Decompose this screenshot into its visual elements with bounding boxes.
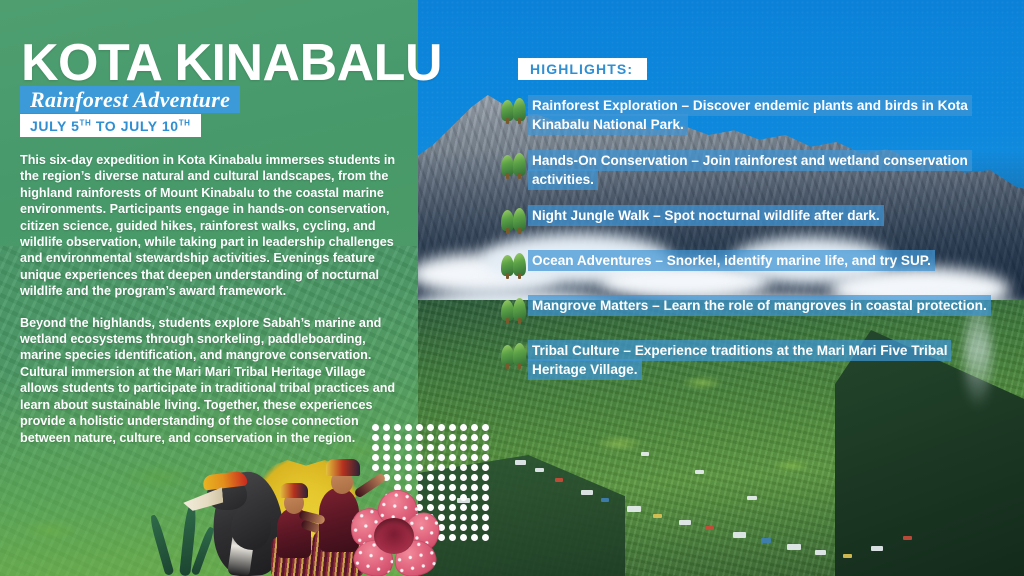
- trees-icon: [500, 208, 530, 234]
- poster-canvas: KOTA KINABALU Rainforest Adventure JULY …: [0, 0, 1024, 576]
- highlight-item: Hands-On Conservation – Join rainforest …: [500, 151, 1000, 189]
- highlight-item-text: Night Jungle Walk – Spot nocturnal wildl…: [530, 206, 1000, 225]
- highlights-list: Rainforest Exploration – Discover endemi…: [500, 96, 1000, 379]
- date-text: JULY 5TH TO JULY 10TH: [30, 118, 191, 134]
- highlight-item: Ocean Adventures – Snorkel, identify mar…: [500, 251, 1000, 279]
- trees-icon: [500, 253, 530, 279]
- highlight-item-text: Mangrove Matters – Learn the role of man…: [530, 296, 1000, 315]
- trees-icon: [500, 153, 530, 179]
- rafflesia-flower-icon: [348, 484, 440, 576]
- description-paragraph-1: This six-day expedition in Kota Kinabalu…: [20, 152, 404, 300]
- date-middle: TO JULY 10: [91, 118, 178, 134]
- description-paragraph-2: Beyond the highlands, students explore S…: [20, 315, 404, 446]
- trees-icon: [500, 98, 530, 124]
- highlights-heading-bar: HIGHLIGHTS:: [518, 58, 647, 80]
- date-ordinal-2: TH: [179, 118, 191, 127]
- date-bar: JULY 5TH TO JULY 10TH: [20, 114, 201, 137]
- highlight-item-text: Tribal Culture – Experience traditions a…: [530, 341, 1000, 379]
- rafflesia-core: [374, 518, 414, 554]
- highlight-item-text: Ocean Adventures – Snorkel, identify mar…: [530, 251, 1000, 270]
- highlights-heading: HIGHLIGHTS:: [530, 61, 633, 77]
- highlight-item: Mangrove Matters – Learn the role of man…: [500, 296, 1000, 324]
- date-ordinal-1: TH: [80, 118, 92, 127]
- highlights-section: HIGHLIGHTS: Rainforest Exploration – Dis…: [500, 58, 1000, 396]
- hornbill-wing: [231, 504, 271, 550]
- page-title: KOTA KINABALU: [21, 36, 442, 90]
- date-prefix: JULY 5: [30, 118, 80, 134]
- highlight-item: Tribal Culture – Experience traditions a…: [500, 341, 1000, 379]
- highlight-item-text: Rainforest Exploration – Discover endemi…: [530, 96, 1000, 134]
- trees-icon: [500, 343, 530, 369]
- highlight-item: Night Jungle Walk – Spot nocturnal wildl…: [500, 206, 1000, 234]
- trees-icon: [500, 298, 530, 324]
- cultural-wildlife-illustration: [185, 458, 440, 576]
- highlight-item: Rainforest Exploration – Discover endemi…: [500, 96, 1000, 134]
- subtitle-text: Rainforest Adventure: [30, 87, 230, 113]
- description-block: This six-day expedition in Kota Kinabalu…: [20, 152, 404, 461]
- highlight-item-text: Hands-On Conservation – Join rainforest …: [530, 151, 1000, 189]
- subtitle-bar: Rainforest Adventure: [20, 86, 240, 113]
